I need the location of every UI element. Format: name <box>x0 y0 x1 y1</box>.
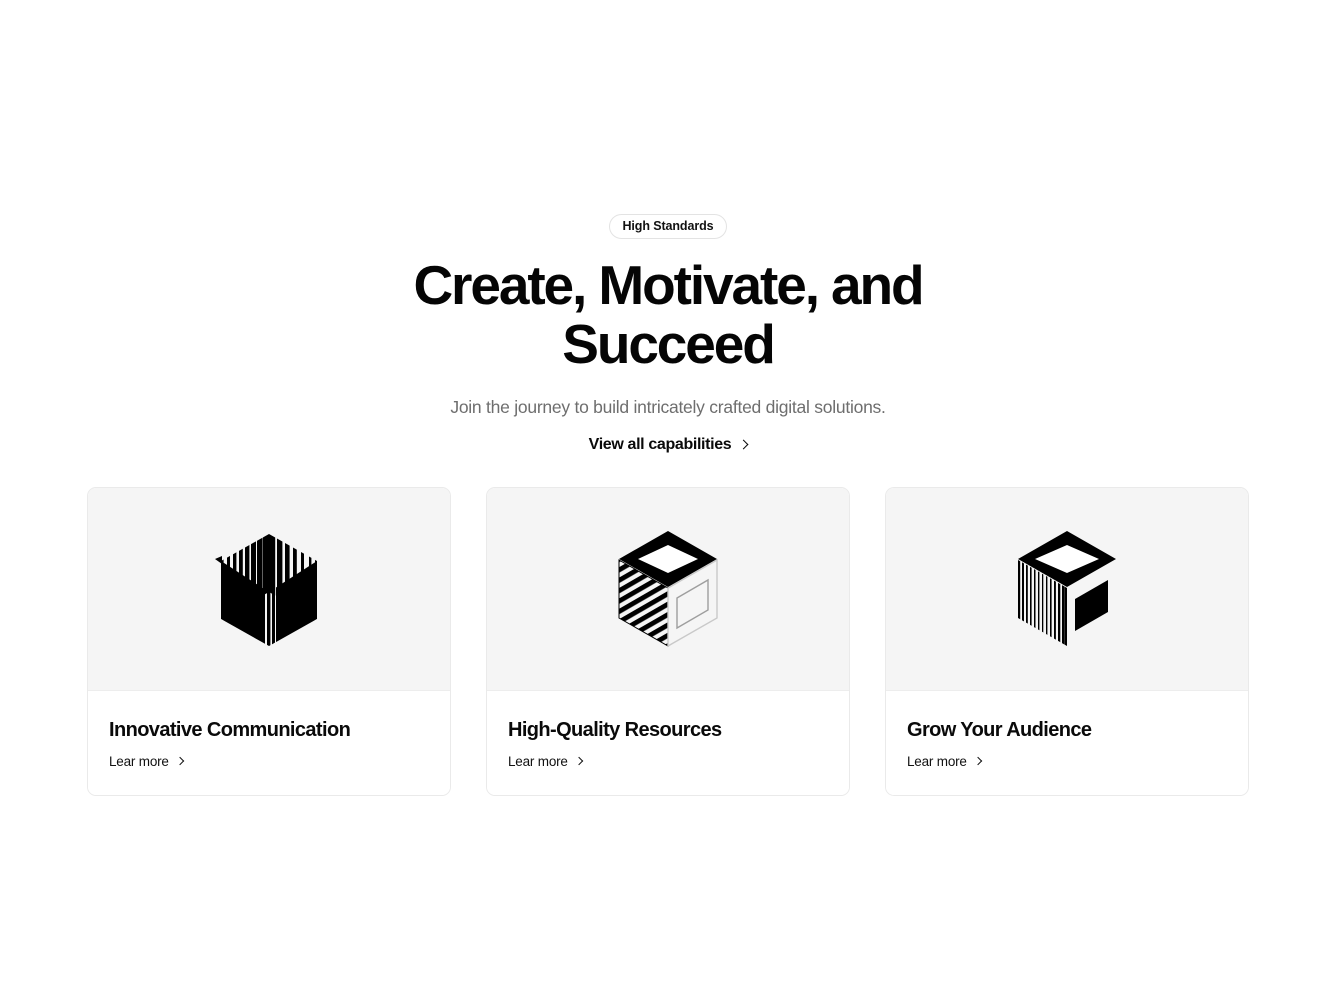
card-media <box>886 488 1248 691</box>
card-body: Grow Your Audience Lear more <box>886 691 1248 795</box>
learn-more-label: Lear more <box>907 754 967 769</box>
chevron-right-icon <box>574 757 582 765</box>
learn-more-link[interactable]: Lear more <box>109 754 183 769</box>
landing-page: High Standards Create, Motivate, and Suc… <box>0 0 1336 1002</box>
chevron-right-icon <box>175 757 183 765</box>
hero-subtitle: Join the journey to build intricately cr… <box>0 395 1336 419</box>
card-title: Grow Your Audience <box>907 718 1227 742</box>
feature-card[interactable]: Innovative Communication Lear more <box>87 487 451 796</box>
chevron-right-icon <box>739 440 749 450</box>
view-all-capabilities-link[interactable]: View all capabilities <box>589 436 748 454</box>
card-body: High-Quality Resources Lear more <box>487 691 849 795</box>
vertical-striped-solid-cube-icon <box>1014 528 1120 650</box>
view-all-capabilities-label: View all capabilities <box>589 436 732 454</box>
striped-hexagon-cube-icon <box>215 530 323 648</box>
outlined-diagonal-striped-cube-icon <box>615 528 721 650</box>
hero-badge: High Standards <box>609 214 728 239</box>
feature-card-grid: Innovative Communication Lear more <box>87 487 1249 796</box>
card-body: Innovative Communication Lear more <box>88 691 450 795</box>
learn-more-label: Lear more <box>508 754 568 769</box>
learn-more-link[interactable]: Lear more <box>907 754 981 769</box>
feature-card[interactable]: Grow Your Audience Lear more <box>885 487 1249 796</box>
feature-card[interactable]: High-Quality Resources Lear more <box>486 487 850 796</box>
page-title: Create, Motivate, and Succeed <box>388 256 948 374</box>
card-title: High-Quality Resources <box>508 718 828 742</box>
card-title: Innovative Communication <box>109 718 429 742</box>
card-media <box>487 488 849 691</box>
chevron-right-icon <box>973 757 981 765</box>
hero-section: High Standards Create, Motivate, and Suc… <box>0 214 1336 454</box>
learn-more-label: Lear more <box>109 754 169 769</box>
learn-more-link[interactable]: Lear more <box>508 754 582 769</box>
card-media <box>88 488 450 691</box>
